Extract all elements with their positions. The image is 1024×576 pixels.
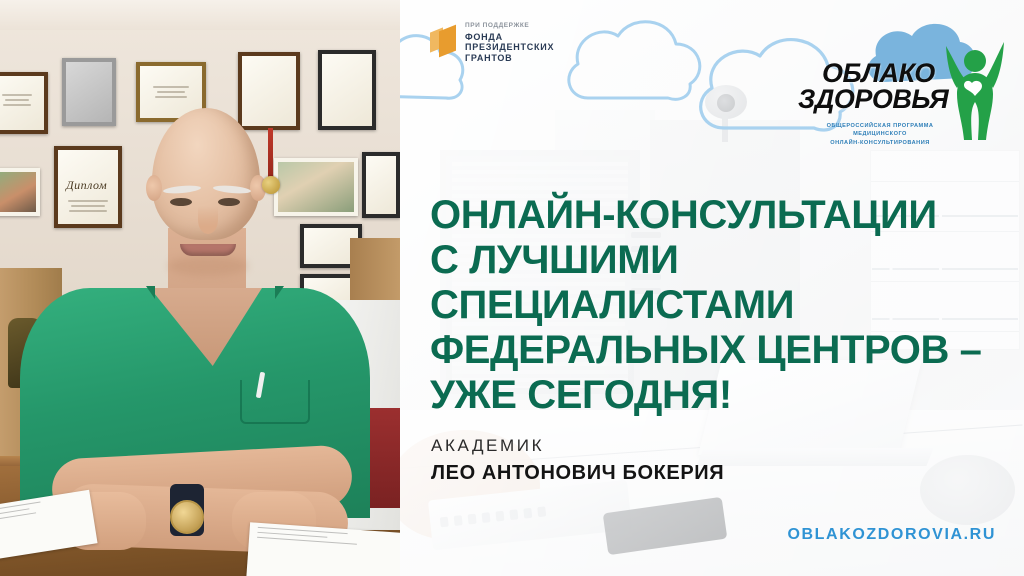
brand-tagline: ОБЩЕРОССИЙСКАЯ ПРОГРАММА МЕДИЦИНСКОГО ОН…	[804, 122, 956, 147]
eye	[218, 198, 240, 206]
chin-shadow	[168, 256, 248, 276]
funding-line-2: ПРЕЗИДЕНТСКИХ	[465, 42, 554, 53]
presidential-grants-fund-icon	[430, 28, 456, 58]
speaker-credit: АКАДЕМИК ЛЕО АНТОНОВИЧ БОКЕРИЯ	[431, 436, 724, 485]
funding-prefix: ПРИ ПОДДЕРЖКЕ	[465, 22, 554, 30]
medal-seal	[262, 176, 280, 194]
cloud-outline-icon	[560, 6, 710, 118]
mouth	[180, 244, 236, 256]
brand-logo[interactable]: ОБЛАКО ЗДОРОВЬЯ ОБЩЕРОССИЙСКАЯ ПРОГРАММА…	[798, 14, 1008, 164]
brand-tagline-line-1: ОБЩЕРОССИЙСКАЯ ПРОГРАММА МЕДИЦИНСКОГО	[804, 122, 956, 139]
diploma-caption: Диплом	[66, 178, 107, 193]
funding-badge: ПРИ ПОДДЕРЖКЕ ФОНДА ПРЕЗИДЕНТСКИХ ГРАНТО…	[430, 22, 554, 63]
page-title: ОНЛАЙН-КОНСУЛЬТАЦИИ С ЛУЧШИМИ СПЕЦИАЛИСТ…	[430, 193, 1010, 418]
headline-line-3: СПЕЦИАЛИСТАМИ	[430, 283, 1010, 328]
doctor-photo: Диплом	[0, 0, 400, 576]
ear	[146, 175, 162, 201]
headline-line-4: ФЕДЕРАЛЬНЫХ ЦЕНТРОВ –	[430, 328, 1010, 373]
speaker-role: АКАДЕМИК	[431, 436, 724, 456]
brand-name-line-1: ОБЛАКО	[822, 60, 948, 86]
funding-badge-text: ПРИ ПОДДЕРЖКЕ ФОНДА ПРЕЗИДЕНТСКИХ ГРАНТО…	[465, 22, 554, 63]
nose	[198, 206, 218, 234]
brand-tagline-line-2: ОНЛАЙН-КОНСУЛЬТИРОВАНИЯ	[804, 139, 956, 147]
funding-name: ФОНДА ПРЕЗИДЕНТСКИХ ГРАНТОВ	[465, 32, 554, 64]
funding-line-3: ГРАНТОВ	[465, 53, 554, 64]
brand-name-line-2: ЗДОРОВЬЯ	[798, 86, 948, 112]
headline-line-5: УЖЕ СЕГОДНЯ!	[430, 373, 1010, 418]
promo-banner: Диплом	[0, 0, 1024, 576]
funding-line-1: ФОНДА	[465, 32, 554, 43]
headline-line-1: ОНЛАЙН-КОНСУЛЬТАЦИИ	[430, 193, 1010, 238]
content-panel: ПРИ ПОДДЕРЖКЕ ФОНДА ПРЕЗИДЕНТСКИХ ГРАНТО…	[400, 0, 1024, 576]
eye	[170, 198, 192, 206]
scrub-pocket	[240, 380, 310, 424]
website-url[interactable]: OBLAKOZDOROVIA.RU	[787, 526, 996, 544]
brand-wordmark: ОБЛАКО ЗДОРОВЬЯ	[798, 60, 948, 113]
desk-paper	[246, 522, 400, 576]
medal-ribbon	[268, 128, 273, 180]
wristwatch-face	[170, 500, 204, 534]
headline-line-2: С ЛУЧШИМИ	[430, 238, 1010, 283]
speaker-name: ЛЕО АНТОНОВИЧ БОКЕРИЯ	[431, 462, 724, 485]
